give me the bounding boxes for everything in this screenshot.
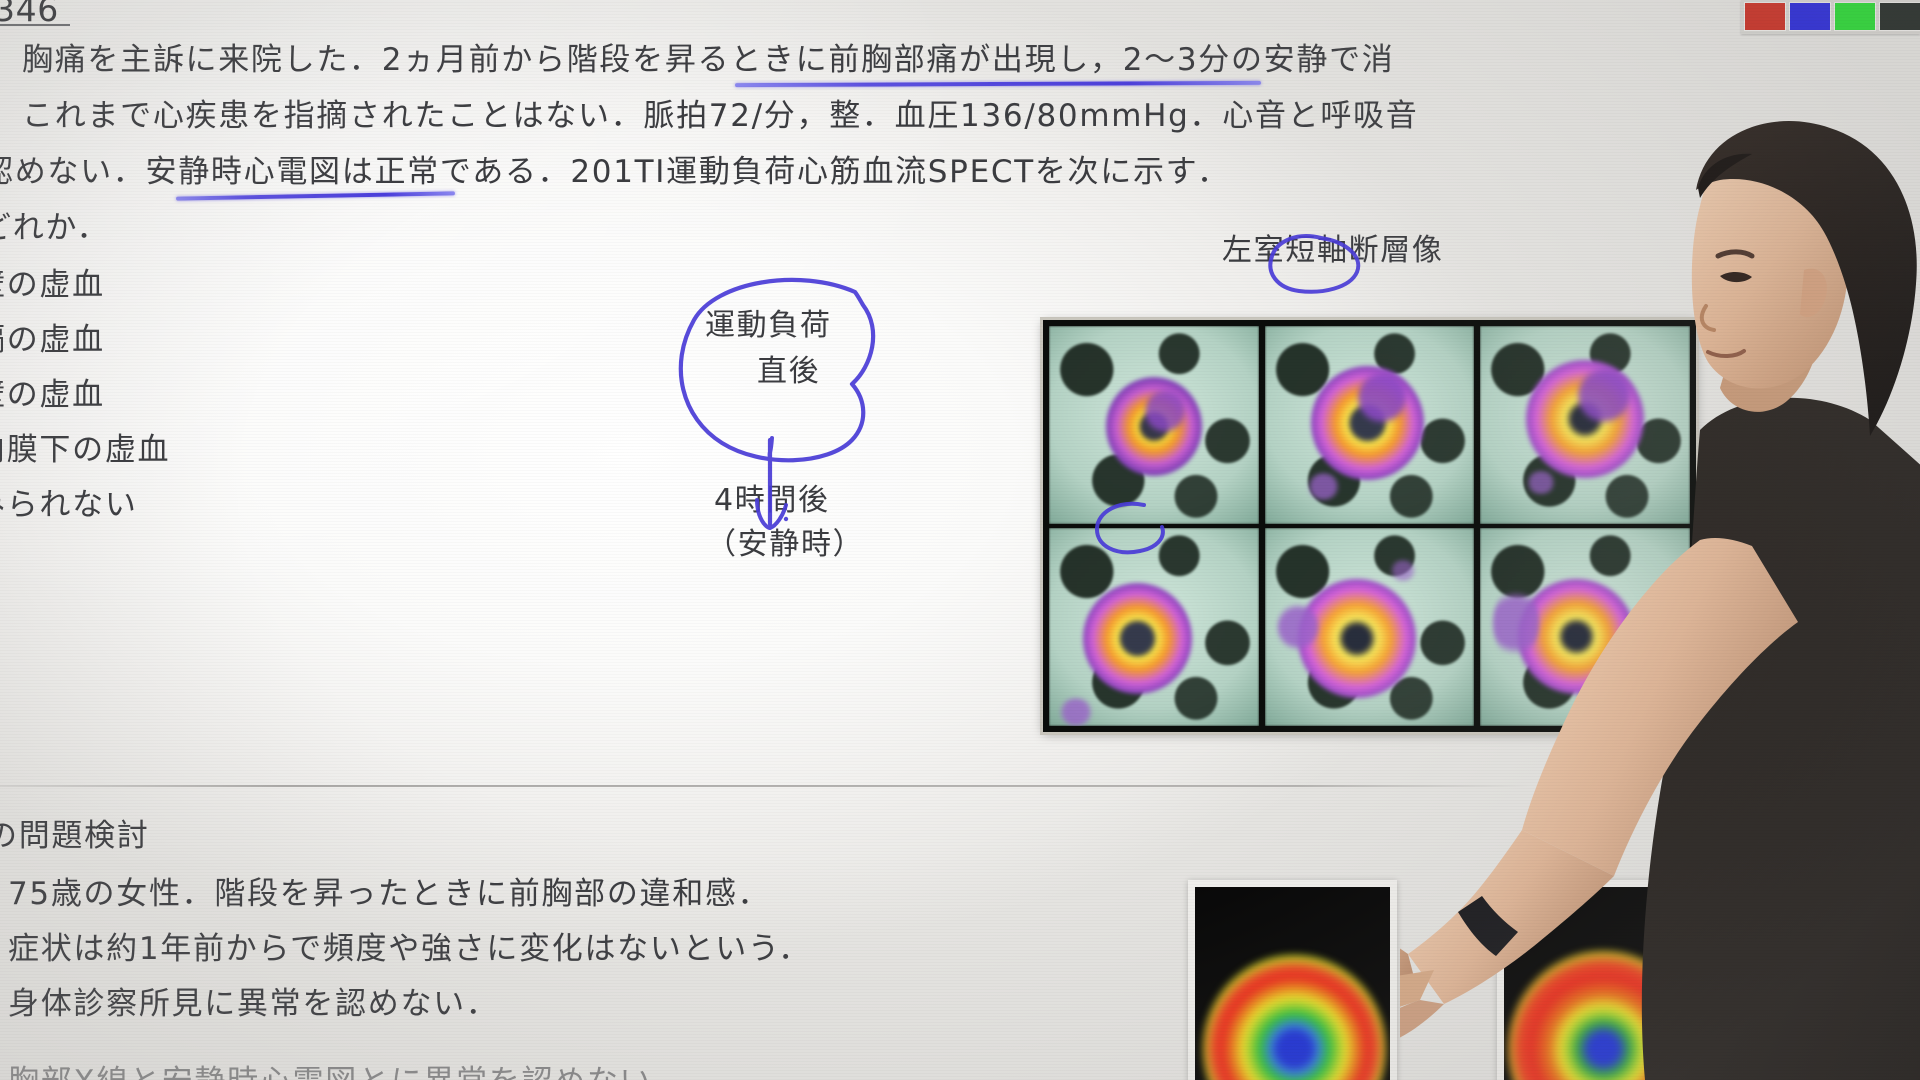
color-swatch-green <box>1834 2 1876 31</box>
extracardiac-activity <box>1390 560 1415 582</box>
perfusion-defect <box>1145 387 1185 435</box>
option-e[interactable]: みられない <box>0 490 138 521</box>
spect-image-panel[interactable] <box>1043 320 1696 732</box>
lower-line-1: 75歳の女性．階段を昇ったときに前胸部の違和感． <box>8 868 770 913</box>
rainbow-spect-image-left[interactable] <box>1188 880 1397 1080</box>
rainbow-canvas <box>1195 887 1390 1080</box>
lower-line-clipped: 胸部X線と安静時心電図とに異常を認めない <box>8 1056 652 1080</box>
color-swatch-dark <box>1879 2 1920 31</box>
section-divider <box>0 785 1530 787</box>
color-swatch-blue <box>1789 2 1831 31</box>
figure-title: 左室短軸断層像 <box>1222 225 1444 269</box>
myocardium-ring <box>1083 583 1192 694</box>
question-line-2: これまで心疾患を指摘されたことはない．脈拍72/分，整．血圧136/80mmHg… <box>22 101 1418 132</box>
rest-row-label-line1: 4時間後 <box>714 475 830 519</box>
myocardium-ring <box>1508 951 1699 1080</box>
extracardiac-activity <box>1307 473 1341 501</box>
lower-line-2: 症状は約1年前からで頻度や強さに変化はないという． <box>8 923 811 968</box>
spect-tile-stress-basal[interactable] <box>1480 326 1690 524</box>
lower-line-3: 身体診察所見に異常を認めない． <box>8 978 499 1023</box>
extracardiac-activity <box>1059 698 1093 726</box>
spect-tile-stress-apical[interactable] <box>1049 326 1259 524</box>
spect-tile-stress-mid[interactable] <box>1265 326 1475 524</box>
video-color-bars <box>1741 0 1920 34</box>
spect-tile-rest-mid[interactable] <box>1265 528 1475 726</box>
option-d[interactable]: 内膜下の虚血 <box>0 435 170 466</box>
question-prompt: どれか． <box>0 213 109 244</box>
spect-tile-rest-apical[interactable] <box>1049 528 1259 726</box>
option-b[interactable]: 隔の虚血 <box>0 325 105 356</box>
reperfused-region <box>1277 603 1319 651</box>
perfusion-defect <box>1577 366 1632 425</box>
page-number-underline <box>0 24 70 26</box>
rainbow-spect-image-right[interactable] <box>1497 880 1706 1080</box>
rainbow-canvas <box>1504 887 1699 1080</box>
stress-row-label-line2: 直後 <box>757 346 820 390</box>
stress-row-label-line1: 運動負荷 <box>705 300 832 344</box>
reperfused-region <box>1493 587 1539 658</box>
question-line-1: 胸痛を主訴に来院した．2ヵ月前から階段を昇るときに前胸部痛が出現し，2〜3分の安… <box>22 45 1394 76</box>
lower-section-heading: の問題検討 <box>0 810 150 855</box>
rest-row-label-line2: （安静時） <box>706 519 864 563</box>
question-line-3: 認めない．安静時心電図は正常である．201TI運動負荷心筋血流SPECTを次に示… <box>0 157 1230 188</box>
extracardiac-activity <box>1526 471 1555 495</box>
myocardium-ring <box>1203 955 1386 1080</box>
perfusion-defect <box>1357 370 1407 425</box>
spect-tile-rest-basal[interactable] <box>1480 528 1690 726</box>
option-a[interactable]: 壁の虚血 <box>0 270 105 301</box>
color-swatch-red <box>1744 2 1786 31</box>
lecture-capture-frame: 346 胸痛を主訴に来院した．2ヵ月前から階段を昇るときに前胸部痛が出現し，2〜… <box>0 0 1920 1080</box>
option-c[interactable]: 壁の虚血 <box>0 380 105 411</box>
